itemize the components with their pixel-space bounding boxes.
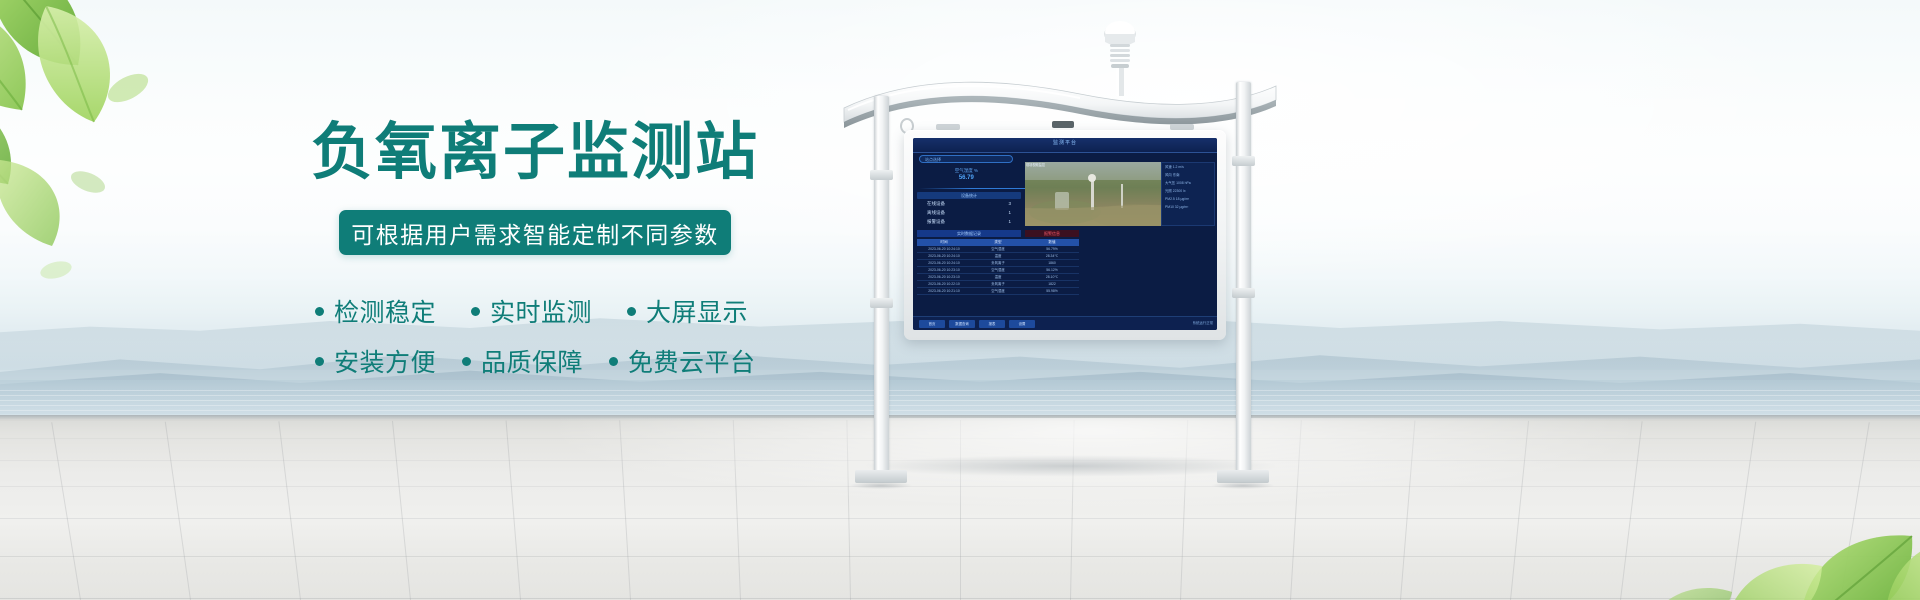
table-cell: 2023-06-20 10:24:10 <box>917 253 971 259</box>
device-stat-row: 在线设备3 <box>917 199 1021 208</box>
device-stats-panel: 设备统计 在线设备3离线设备1报警设备1 <box>917 192 1021 226</box>
table-row[interactable]: 2023-06-20 10:24:10温度28.34℃ <box>917 253 1079 260</box>
sensor-readings-panel: 风速 1.2 m/s风向 东南大气压 1008 hPa光照 22300 lxPM… <box>1161 162 1215 226</box>
screen-mount-tab-center <box>1052 121 1074 128</box>
support-post-left <box>874 96 889 472</box>
support-post-right <box>1236 82 1251 472</box>
feature-row-1: 检测稳定 实时监测 大屏显示 <box>315 293 755 329</box>
sensor-reading-row: 大气压 1008 hPa <box>1162 179 1214 187</box>
bullet-dot-icon <box>627 307 636 316</box>
bullet-dot-icon <box>609 357 618 366</box>
feature-label: 大屏显示 <box>646 293 748 329</box>
table-cell: 2023-06-20 10:23:10 <box>917 274 971 280</box>
device-stat-value: 1 <box>1008 209 1011 216</box>
post-bracket-left-upper <box>870 170 893 180</box>
feature-label: 实时监测 <box>490 293 592 329</box>
leaf-decoration-bottom-right <box>1330 430 1920 600</box>
footer-tab[interactable]: 设置 <box>1009 320 1035 328</box>
leaf-decoration-left <box>0 0 220 300</box>
sensor-reading-row: 风速 1.2 m/s <box>1162 163 1214 171</box>
feature-label: 免费云平台 <box>628 343 756 379</box>
table-cell: 负氧离子 <box>971 260 1025 266</box>
monitoring-station-kiosk: 监测平台 站点选择 空气湿度 %56.79温度 ℃28.34负氧离子 pcs/c… <box>840 20 1280 500</box>
sensor-reading-row: 光照 22300 lx <box>1162 187 1214 195</box>
feature-item-1: 检测稳定 <box>315 293 445 329</box>
footer-status-text: 系统运行正常 <box>1193 320 1213 325</box>
station-select-dropdown[interactable]: 站点选择 <box>919 155 1013 163</box>
feature-row-2: 安装方便 品质保障 免费云平台 <box>315 343 755 379</box>
dashboard-footer: 首页数据查询报表设置 系统运行正常 <box>913 316 1217 330</box>
sensor-reading-row: 风向 东南 <box>1162 171 1214 179</box>
device-stat-value: 1 <box>1008 218 1011 225</box>
feature-item-4: 安装方便 <box>315 343 436 379</box>
table-cell: 56.12% <box>1025 267 1079 273</box>
table-cell: 温度 <box>971 253 1025 259</box>
station-select-value: 站点选择 <box>925 157 941 163</box>
device-stats-title: 设备统计 <box>917 192 1021 199</box>
table-row[interactable]: 2023-06-20 10:23:10温度28.10℃ <box>917 274 1079 281</box>
dashboard-title: 监测平台 <box>913 139 1217 146</box>
table-row[interactable]: 2023-06-20 10:22:10负氧离子1822 <box>917 281 1079 288</box>
table-column-header: 类型 <box>971 239 1025 246</box>
table-row[interactable]: 2023-06-20 10:21:10空气湿度55.98% <box>917 288 1079 295</box>
device-stat-row: 报警设备1 <box>917 217 1021 226</box>
hero-banner: 负氧离子监测站 可根据用户需求智能定制不同参数 检测稳定 实时监测 大屏显示 <box>0 0 1920 600</box>
video-scene-svg <box>1025 162 1175 226</box>
subtitle-text: 可根据用户需求智能定制不同参数 <box>351 216 719 250</box>
table-cell: 28.10℃ <box>1025 274 1079 280</box>
foot-shadow-left <box>850 482 912 489</box>
device-stat-value: 3 <box>1008 200 1011 207</box>
post-bracket-right-lower <box>1232 288 1255 298</box>
table-cell: 2023-06-20 10:22:10 <box>917 281 971 287</box>
table-cell: 负氧离子 <box>971 281 1025 287</box>
kpi-label: 空气湿度 % <box>917 167 1016 174</box>
footer-tab[interactable]: 首页 <box>919 320 945 328</box>
sensor-reading-row: PM2.5 18 μg/m³ <box>1162 195 1214 203</box>
table-cell: 1822 <box>1025 281 1079 287</box>
device-stat-row: 离线设备1 <box>917 208 1021 217</box>
subtitle-badge: 可根据用户需求智能定制不同参数 <box>339 210 731 255</box>
data-table: 时间类型数值 2023-06-20 10:24:10空气湿度56.79%2023… <box>917 239 1079 295</box>
bullet-dot-icon <box>315 357 324 366</box>
table-cell: 空气湿度 <box>971 288 1025 294</box>
video-label: 现场视频监控 <box>1026 162 1045 167</box>
device-stats-list: 在线设备3离线设备1报警设备1 <box>917 199 1021 226</box>
leaf-svg-left <box>0 0 260 330</box>
data-log-title: 实时数据记录 <box>917 230 1021 237</box>
live-video-feed[interactable]: 现场视频监控 <box>1025 162 1175 226</box>
feature-item-6: 免费云平台 <box>609 343 756 379</box>
table-cell: 温度 <box>971 274 1025 280</box>
sensor-readings-list: 风速 1.2 m/s风向 东南大气压 1008 hPa光照 22300 lxPM… <box>1162 163 1214 211</box>
table-cell: 1860 <box>1025 260 1079 266</box>
feature-label: 检测稳定 <box>334 293 436 329</box>
footer-tab[interactable]: 数据查询 <box>949 320 975 328</box>
table-cell: 空气湿度 <box>971 267 1025 273</box>
page-title: 负氧离子监测站 <box>300 118 770 188</box>
table-row[interactable]: 2023-06-20 10:24:10空气湿度56.79% <box>917 246 1079 253</box>
dashboard-screen[interactable]: 监测平台 站点选择 空气湿度 %56.79温度 ℃28.34负氧离子 pcs/c… <box>913 138 1217 330</box>
post-bracket-left-lower <box>870 298 893 308</box>
post-bracket-right-upper <box>1232 156 1255 166</box>
sensor-reading-row: PM10 32 μg/m³ <box>1162 203 1214 211</box>
feature-item-3: 大屏显示 <box>627 293 748 329</box>
table-header-row: 时间类型数值 <box>917 239 1079 246</box>
table-column-header: 数值 <box>1025 239 1079 246</box>
table-cell: 2023-06-20 10:24:10 <box>917 246 971 252</box>
table-cell: 空气湿度 <box>971 246 1025 252</box>
table-cell: 2023-06-20 10:24:10 <box>917 260 971 266</box>
table-cell: 2023-06-20 10:21:10 <box>917 288 971 294</box>
table-row[interactable]: 2023-06-20 10:24:10负氧离子1860 <box>917 260 1079 267</box>
feature-item-5: 品质保障 <box>462 343 583 379</box>
table-cell: 2023-06-20 10:23:10 <box>917 267 971 273</box>
display-screen-frame: 监测平台 站点选择 空气湿度 %56.79温度 ℃28.34负氧离子 pcs/c… <box>904 130 1226 340</box>
kpi-card: 空气湿度 %56.79 <box>917 167 1016 182</box>
alarm-title: 报警信息 <box>1025 230 1079 237</box>
bullet-dot-icon <box>462 357 471 366</box>
device-stat-label: 离线设备 <box>927 209 945 216</box>
footer-tab[interactable]: 报表 <box>979 320 1005 328</box>
leaf-svg-bottom <box>1330 430 1920 600</box>
table-cell: 55.98% <box>1025 288 1079 294</box>
device-stat-label: 报警设备 <box>927 218 945 225</box>
bullet-dot-icon <box>315 307 324 316</box>
feature-label: 安装方便 <box>334 343 436 379</box>
banner-copy: 负氧离子监测站 可根据用户需求智能定制不同参数 检测稳定 实时监测 大屏显示 <box>300 118 770 393</box>
table-row[interactable]: 2023-06-20 10:23:10空气湿度56.12% <box>917 267 1079 274</box>
bullet-dot-icon <box>471 307 480 316</box>
table-body: 2023-06-20 10:24:10空气湿度56.79%2023-06-20 … <box>917 246 1079 295</box>
table-cell: 28.34℃ <box>1025 253 1079 259</box>
device-stat-label: 在线设备 <box>927 200 945 207</box>
table-column-header: 时间 <box>917 239 971 246</box>
table-cell: 56.79% <box>1025 246 1079 252</box>
kpi-value: 56.79 <box>917 174 1016 182</box>
feature-label: 品质保障 <box>481 343 583 379</box>
foot-shadow-right <box>1212 482 1274 489</box>
feature-item-2: 实时监测 <box>471 293 601 329</box>
feature-list: 检测稳定 实时监测 大屏显示 安装方便 品质保障 <box>315 293 755 379</box>
